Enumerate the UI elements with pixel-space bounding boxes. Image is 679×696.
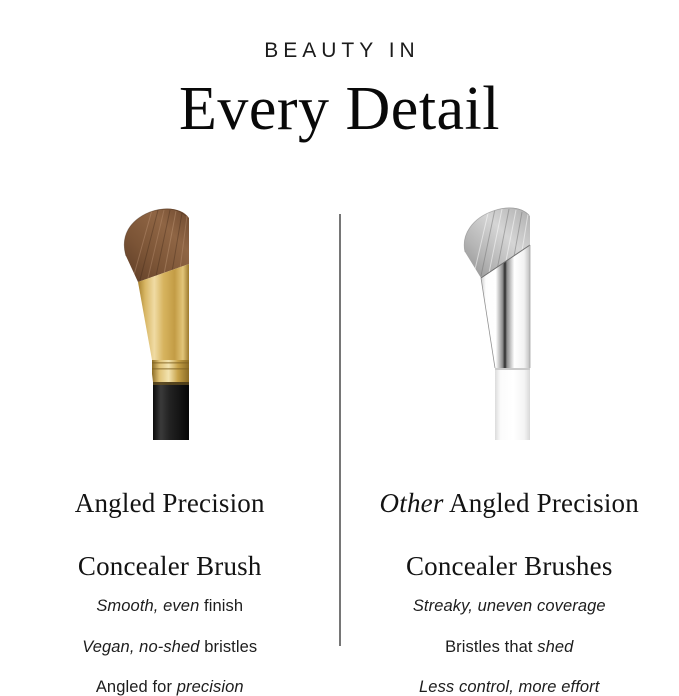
feature-emphasis: Smooth, even bbox=[96, 597, 199, 615]
feature-item: Vegan, no-shed bristles bbox=[0, 639, 340, 656]
feature-item: Less control, more effort bbox=[340, 679, 679, 696]
product-title-line2: Concealer Brushes bbox=[406, 551, 613, 581]
feature-emphasis: Vegan, no-shed bbox=[82, 638, 199, 656]
feature-emphasis: precision bbox=[177, 678, 244, 696]
feature-text: Bristles that bbox=[445, 638, 537, 656]
product-title-line1: Angled Precision bbox=[444, 488, 639, 518]
brush-image-our bbox=[90, 190, 250, 440]
angled-brush-gold-icon bbox=[90, 190, 250, 440]
product-title-other: Other Angled Precision Concealer Brushes bbox=[380, 456, 639, 582]
handle-white bbox=[495, 368, 530, 440]
feature-item: Angled for precision bbox=[0, 679, 340, 696]
feature-list-our: Smooth, even finish Vegan, no-shed brist… bbox=[0, 598, 340, 696]
feature-text: finish bbox=[199, 597, 243, 615]
feature-item: Bristles that shed bbox=[340, 639, 679, 656]
feature-emphasis: Streaky, uneven coverage bbox=[413, 597, 606, 615]
feature-text: Angled for bbox=[96, 678, 177, 696]
feature-item: Streaky, uneven coverage bbox=[340, 598, 679, 615]
product-title-emphasis: Other bbox=[380, 488, 444, 518]
product-title-line1: Angled Precision bbox=[75, 488, 265, 518]
feature-list-other: Streaky, uneven coverage Bristles that s… bbox=[340, 598, 679, 696]
product-title-line2: Concealer Brush bbox=[78, 551, 262, 581]
feature-emphasis: Less control, more effort bbox=[419, 678, 599, 696]
handle-black bbox=[153, 382, 189, 440]
page-title: Every Detail bbox=[0, 77, 679, 142]
column-other-brushes: Other Angled Precision Concealer Brushes… bbox=[340, 190, 679, 696]
header: BEAUTY IN Every Detail bbox=[0, 40, 679, 142]
comparison-columns: Angled Precision Concealer Brush Smooth,… bbox=[0, 190, 679, 696]
feature-text: bristles bbox=[200, 638, 258, 656]
feature-item: Smooth, even finish bbox=[0, 598, 340, 615]
feature-emphasis: shed bbox=[537, 638, 573, 656]
angled-brush-silver-icon bbox=[429, 190, 589, 440]
column-our-brush: Angled Precision Concealer Brush Smooth,… bbox=[0, 190, 340, 696]
eyebrow-text: BEAUTY IN bbox=[0, 40, 679, 61]
ferrule-gold bbox=[138, 264, 189, 382]
brush-image-other bbox=[429, 190, 589, 440]
product-title-our: Angled Precision Concealer Brush bbox=[75, 456, 265, 582]
promo-comparison-page: BEAUTY IN Every Detail bbox=[0, 0, 679, 679]
